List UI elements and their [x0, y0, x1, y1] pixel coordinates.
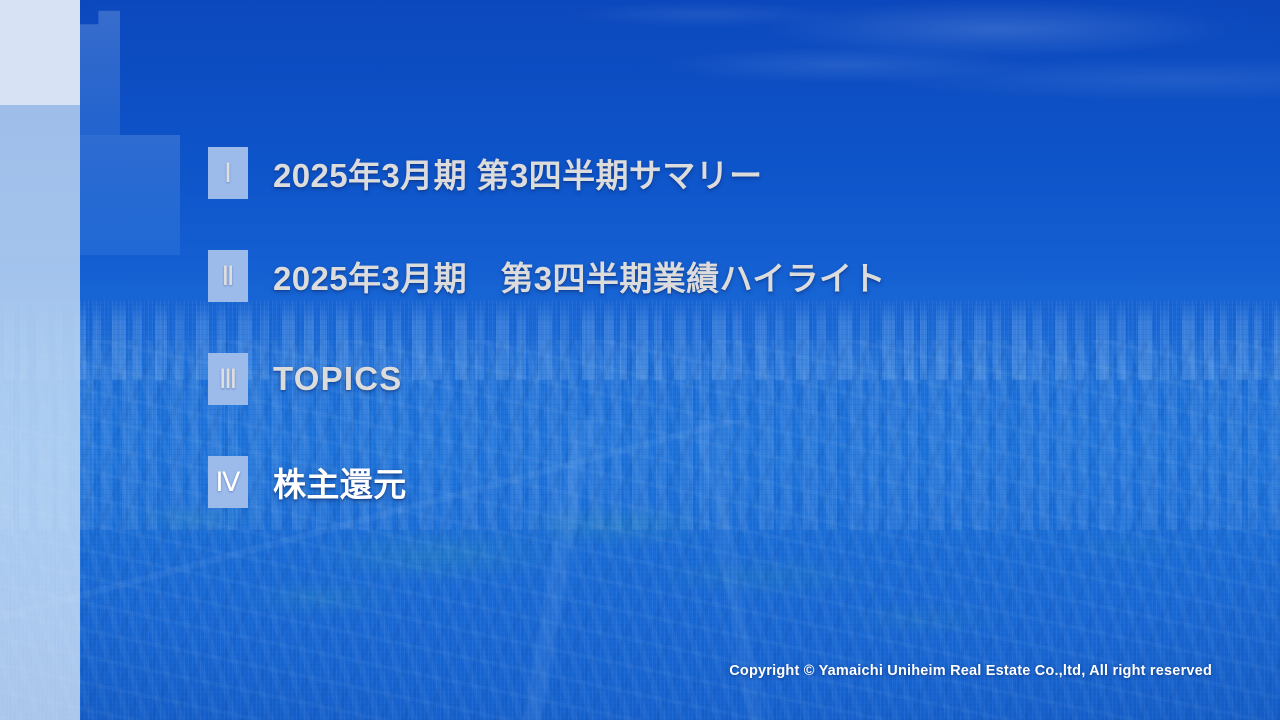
- contents-item-2[interactable]: Ⅱ 2025年3月期 第3四半期業績ハイライト: [208, 250, 1248, 302]
- contents-item-label-2: 2025年3月期 第3四半期業績ハイライト: [273, 252, 886, 300]
- sidebar: CONTENTS: [0, 0, 80, 720]
- contents-list: Ⅰ 2025年3月期 第3四半期サマリー Ⅱ 2025年3月期 第3四半期業績ハ…: [208, 147, 1248, 559]
- roman-numeral-box-2: Ⅱ: [208, 250, 248, 302]
- copyright-notice: Copyright © Yamaichi Uniheim Real Estate…: [729, 663, 1212, 679]
- contents-item-label-4: 株主還元: [273, 458, 407, 506]
- contents-item-3[interactable]: Ⅲ TOPICS: [208, 353, 1248, 405]
- roman-numeral-box-3: Ⅲ: [208, 353, 248, 405]
- sidebar-top-block: [0, 0, 80, 105]
- presentation-slide: CONTENTS Ⅰ 2025年3月期 第3四半期サマリー Ⅱ 2025年3月期…: [0, 0, 1280, 720]
- roman-numeral-box-4: Ⅳ: [208, 456, 248, 508]
- contents-item-1[interactable]: Ⅰ 2025年3月期 第3四半期サマリー: [208, 147, 1248, 199]
- contents-item-4[interactable]: Ⅳ 株主還元: [208, 456, 1248, 508]
- sidebar-title: CONTENTS: [0, 122, 13, 422]
- contents-item-label-3: TOPICS: [273, 360, 402, 398]
- contents-item-label-1: 2025年3月期 第3四半期サマリー: [273, 149, 763, 197]
- roman-numeral-box-1: Ⅰ: [208, 147, 248, 199]
